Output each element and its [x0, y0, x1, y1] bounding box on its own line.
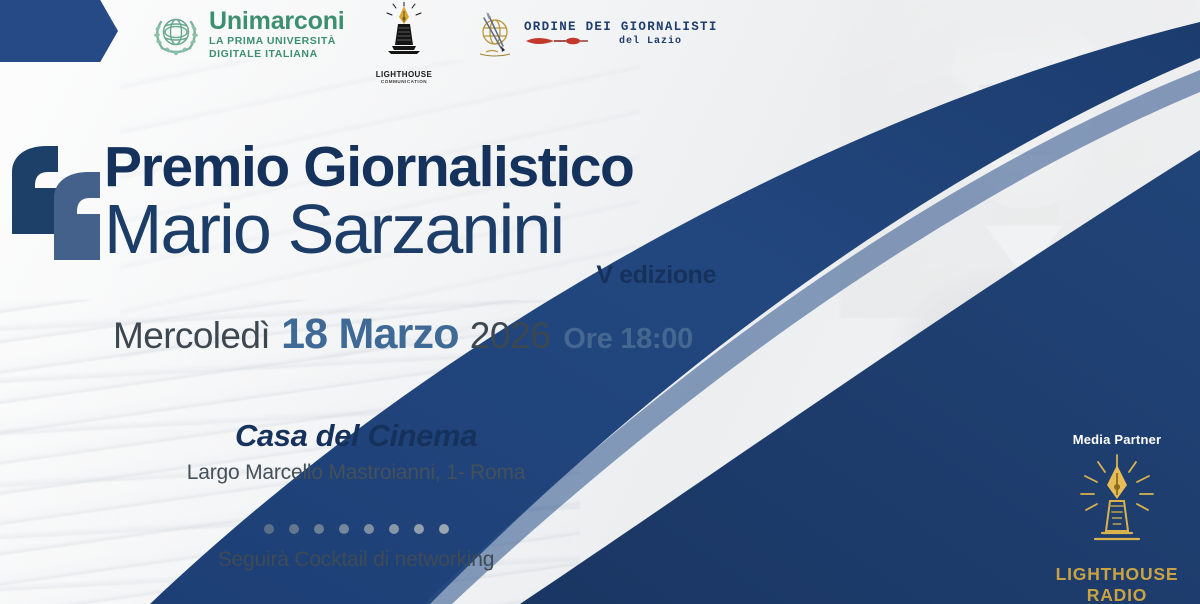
odg-title: ORDINE DEI GIORNALISTI	[524, 20, 718, 34]
navy-wave-decoration	[0, 0, 1200, 604]
lighthouse-comm-name: LIGHTHOUSE	[370, 70, 438, 79]
page-title-line-2: Mario Sarzanini	[104, 194, 744, 264]
event-time: Ore 18:00	[563, 323, 693, 356]
lighthouse-radio-pen-icon	[1057, 453, 1177, 561]
partner-logo-row: Unimarconi LA PRIMA UNIVERSITÀ DIGITALE …	[0, 0, 1200, 88]
event-poster: Unimarconi LA PRIMA UNIVERSITÀ DIGITALE …	[0, 0, 1200, 604]
separator-dot	[364, 524, 374, 534]
unimarconi-name: Unimarconi	[209, 9, 345, 34]
separator-dot	[339, 524, 349, 534]
unimarconi-subtitle-1: LA PRIMA UNIVERSITÀ	[209, 36, 345, 47]
lighthouse-pen-icon	[370, 2, 438, 64]
event-weekday: Mercoledì	[113, 315, 270, 357]
logo-ordine-dei-giornalisti: ORDINE DEI GIORNALISTI del Lazio	[472, 8, 718, 60]
separator-dot	[264, 524, 274, 534]
globe-pen-emblem-icon	[472, 8, 520, 60]
odg-ribbon-icon	[524, 35, 616, 48]
venue-address: Largo Marcello Mastroianni, 1- Roma	[0, 461, 712, 485]
media-partner-block: Media Partner	[1034, 432, 1200, 604]
unimarconi-subtitle-2: DIGITALE ITALIANA	[209, 49, 345, 60]
logo-lighthouse-communication: LIGHTHOUSE COMMUNICATION	[370, 2, 438, 84]
logo-unimarconi: Unimarconi LA PRIMA UNIVERSITÀ DIGITALE …	[150, 8, 345, 60]
laurel-globe-emblem-icon	[150, 8, 202, 60]
event-date-line: Mercoledì 18 Marzo 2026 Ore 18:00	[113, 310, 693, 359]
media-partner-label: Media Partner	[1034, 432, 1200, 447]
page-title-line-1: Premio Giornalistico	[104, 140, 744, 195]
separator-dot	[389, 524, 399, 534]
lighthouse-comm-sub: COMMUNICATION	[370, 79, 438, 84]
venue-name: Casa del Cinema	[0, 418, 712, 454]
footer-note: Seguirà Cocktail di networking	[0, 548, 712, 572]
headline-block: Premio Giornalistico Mario Sarzanini V e…	[104, 140, 744, 290]
quotation-mark-icon	[8, 142, 106, 262]
odg-subtitle: del Lazio	[619, 36, 682, 48]
separator-dot	[414, 524, 424, 534]
venue-block: Casa del Cinema Largo Marcello Mastroian…	[0, 418, 712, 485]
dot-separator	[0, 524, 712, 534]
event-year: 2026	[470, 315, 551, 357]
separator-dot	[439, 524, 449, 534]
media-partner-logo-name: LIGHTHOUSE RADIO	[1034, 564, 1200, 604]
separator-dot	[289, 524, 299, 534]
separator-dot	[314, 524, 324, 534]
event-day-month: 18 Marzo	[281, 310, 459, 359]
